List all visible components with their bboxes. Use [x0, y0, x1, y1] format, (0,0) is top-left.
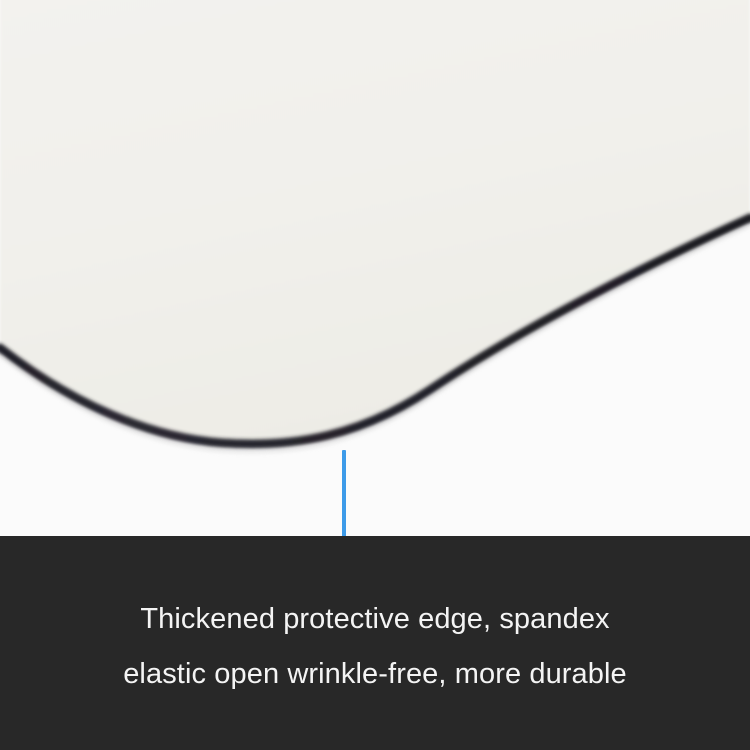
caption-line-2: elastic open wrinkle-free, more durable [0, 647, 750, 702]
caption-line-1: Thickened protective edge, spandex [0, 592, 750, 647]
product-detail-image: Thickened protective edge, spandex elast… [0, 0, 750, 750]
caption-text-block: Thickened protective edge, spandex elast… [0, 536, 750, 702]
caption-banner: Thickened protective edge, spandex elast… [0, 536, 750, 750]
product-photo [0, 0, 750, 536]
mouse-pad-illustration [0, 0, 750, 536]
